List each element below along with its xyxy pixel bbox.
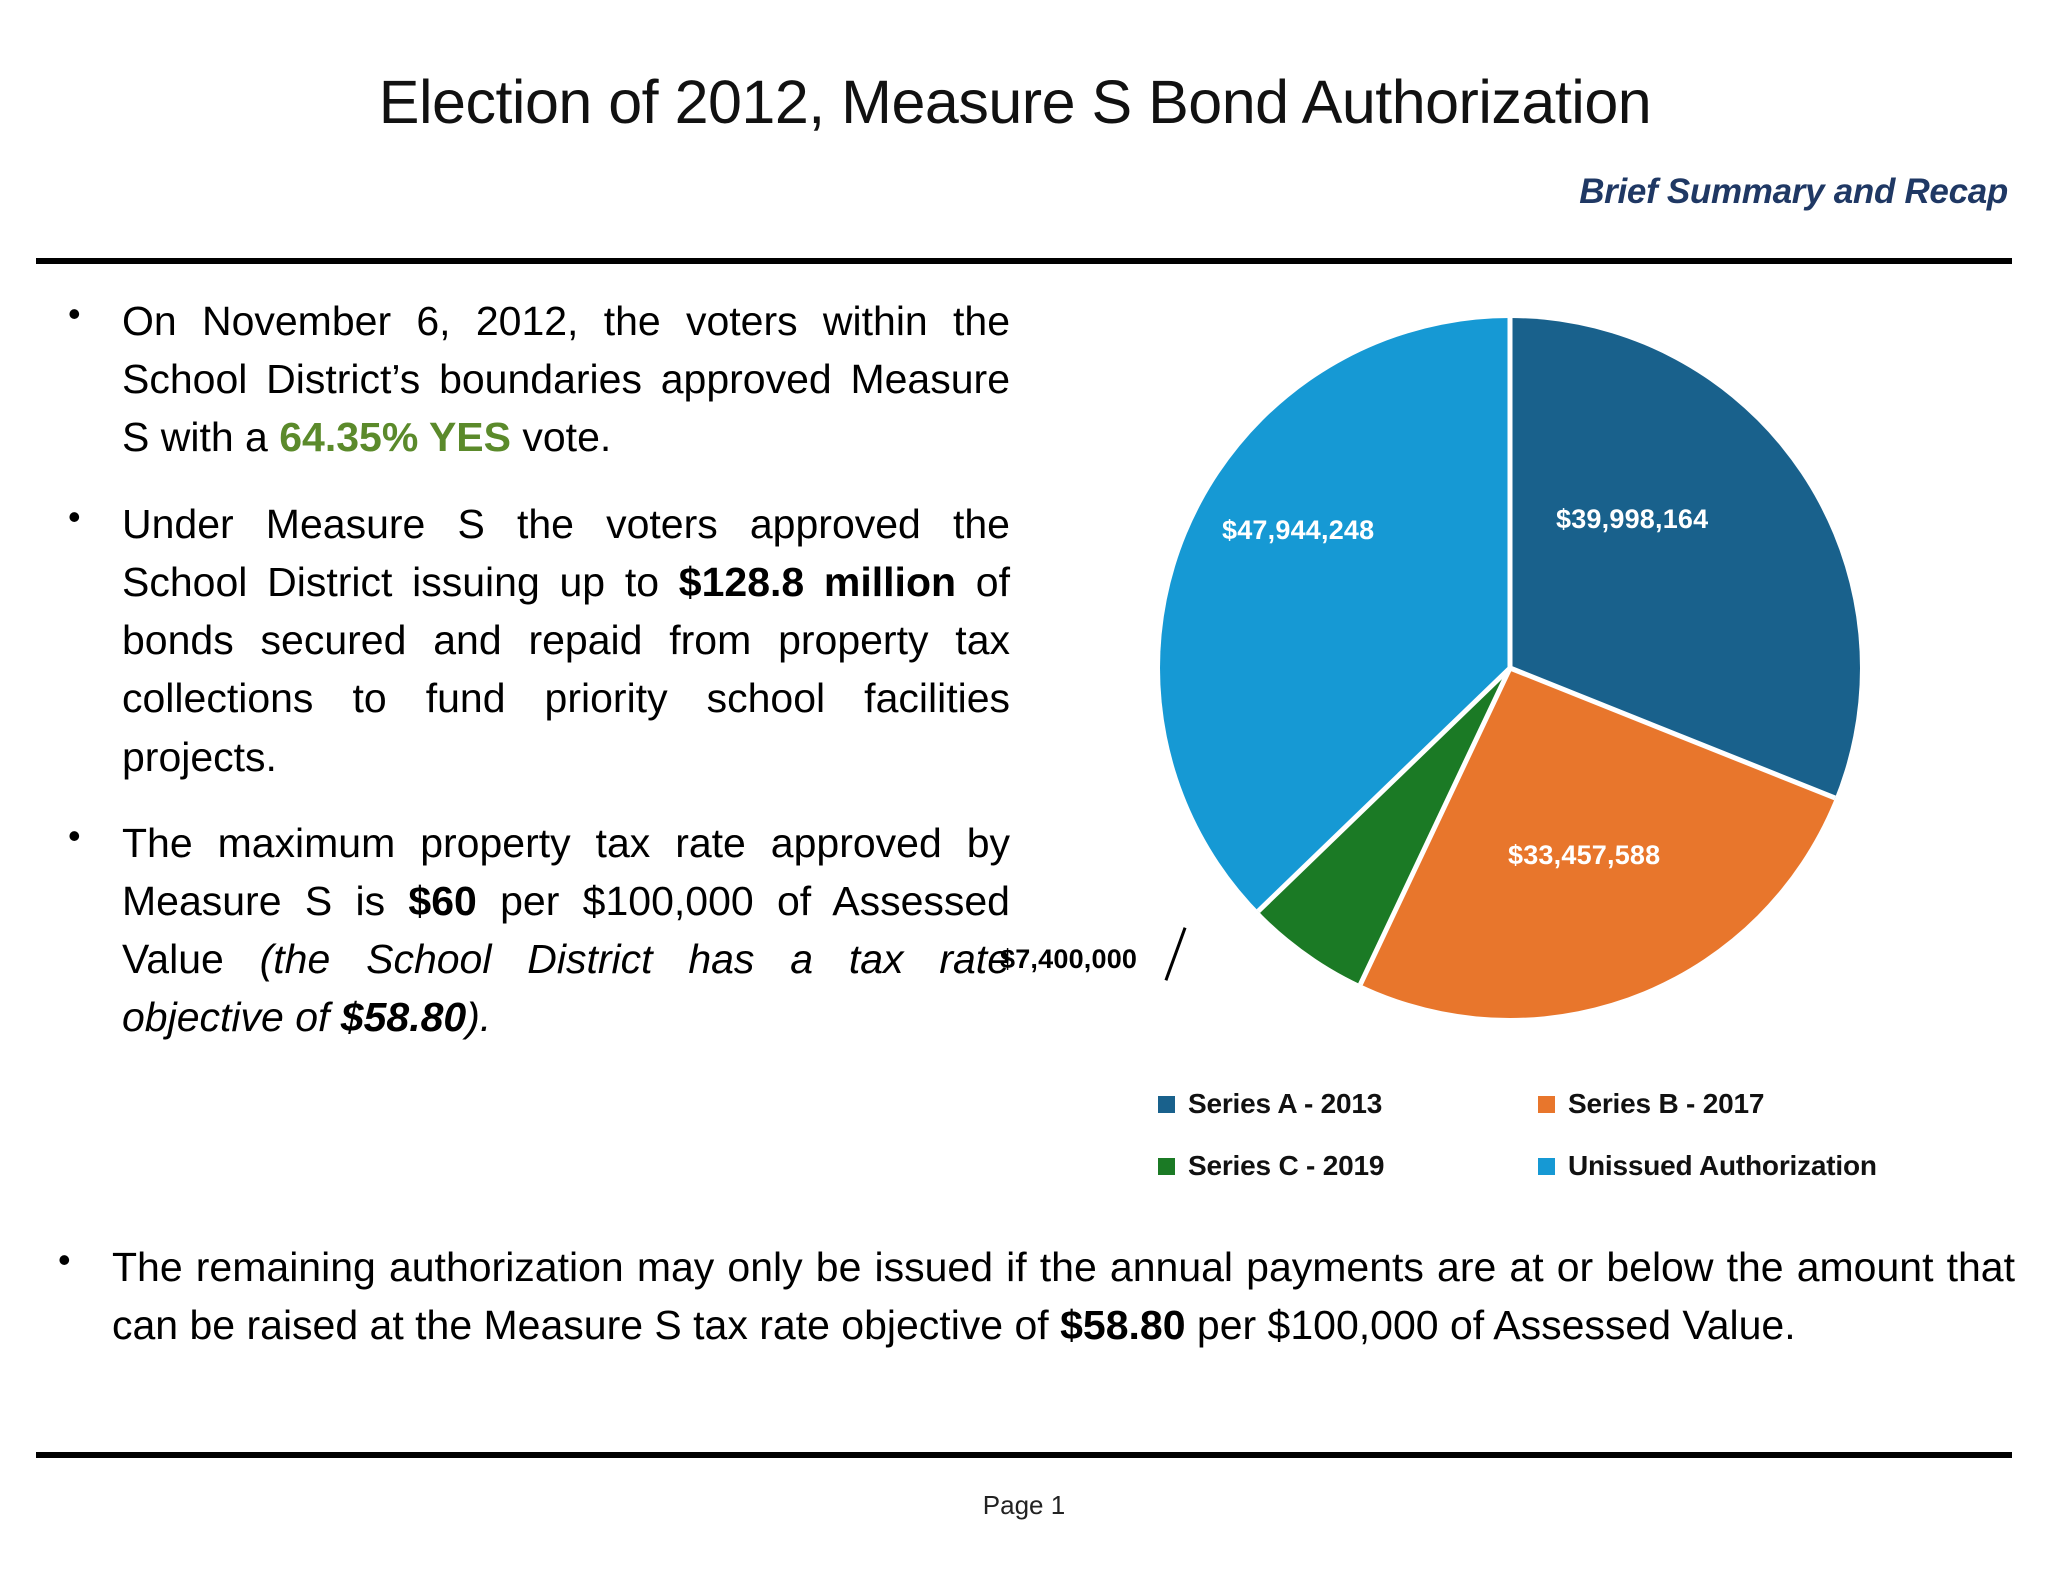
footer-divider — [36, 1452, 2012, 1458]
bullet-column-left: On November 6, 2012, the voters within t… — [50, 292, 1010, 1047]
list-item: The remaining authorization may only be … — [40, 1238, 2015, 1354]
page-title: Election of 2012, Measure S Bond Authori… — [0, 70, 2030, 134]
legend-swatch-icon — [1538, 1096, 1555, 1113]
page-subtitle: Brief Summary and Recap — [1579, 172, 2008, 212]
list-item: On November 6, 2012, the voters within t… — [50, 292, 1010, 467]
bullet-3-text-part-3: ). — [466, 994, 491, 1040]
page-footer: Page 1 — [0, 1490, 2048, 1521]
slice-label-series-b: $33,457,588 — [1508, 840, 1660, 871]
list-item: The maximum property tax rate approved b… — [50, 814, 1010, 1047]
chart-legend: Series A - 2013 Series B - 2017 Series C… — [1158, 1088, 1948, 1182]
pie-graphic: $39,998,164 $33,457,588 $47,944,248 $7,4… — [1160, 318, 1860, 1018]
legend-item-series-b[interactable]: Series B - 2017 — [1538, 1088, 1908, 1120]
legend-item-series-c[interactable]: Series C - 2019 — [1158, 1150, 1528, 1182]
bullet-4-text-part-2: per $100,000 of Assessed Value. — [1186, 1302, 1796, 1348]
legend-swatch-icon — [1158, 1096, 1175, 1113]
legend-label: Series A - 2013 — [1188, 1088, 1382, 1120]
bullet-1-text-part-2: vote. — [511, 414, 611, 460]
pie-divider — [1508, 318, 1513, 668]
bullet-1-highlight: 64.35% YES — [279, 414, 511, 460]
header-divider — [36, 258, 2012, 264]
legend-item-unissued[interactable]: Unissued Authorization — [1538, 1150, 1908, 1182]
legend-label: Series C - 2019 — [1188, 1150, 1384, 1182]
legend-swatch-icon — [1538, 1158, 1555, 1175]
slide-header: Election of 2012, Measure S Bond Authori… — [0, 0, 2048, 262]
slide-content: On November 6, 2012, the voters within t… — [0, 278, 2048, 1448]
leader-line-series-c — [1165, 927, 1187, 981]
list-item: Under Measure S the voters approved the … — [50, 495, 1010, 786]
slice-label-unissued: $47,944,248 — [1222, 515, 1374, 546]
legend-label: Series B - 2017 — [1568, 1088, 1764, 1120]
bullet-2-strong: $128.8 million — [679, 559, 956, 605]
bullet-3-strong-60: $60 — [408, 878, 476, 924]
bullet-column-wide: The remaining authorization may only be … — [40, 1238, 2015, 1354]
legend-swatch-icon — [1158, 1158, 1175, 1175]
slice-label-series-a: $39,998,164 — [1556, 504, 1708, 535]
bullet-list-wide: The remaining authorization may only be … — [40, 1238, 2015, 1354]
slice-label-series-c: $7,400,000 — [1000, 944, 1137, 975]
legend-label: Unissued Authorization — [1568, 1150, 1877, 1182]
bullet-4-strong: $58.80 — [1060, 1302, 1185, 1348]
bullet-3-strong-italic: $58.80 — [341, 994, 466, 1040]
legend-item-series-a[interactable]: Series A - 2013 — [1158, 1088, 1528, 1120]
bullet-list: On November 6, 2012, the voters within t… — [50, 292, 1010, 1047]
